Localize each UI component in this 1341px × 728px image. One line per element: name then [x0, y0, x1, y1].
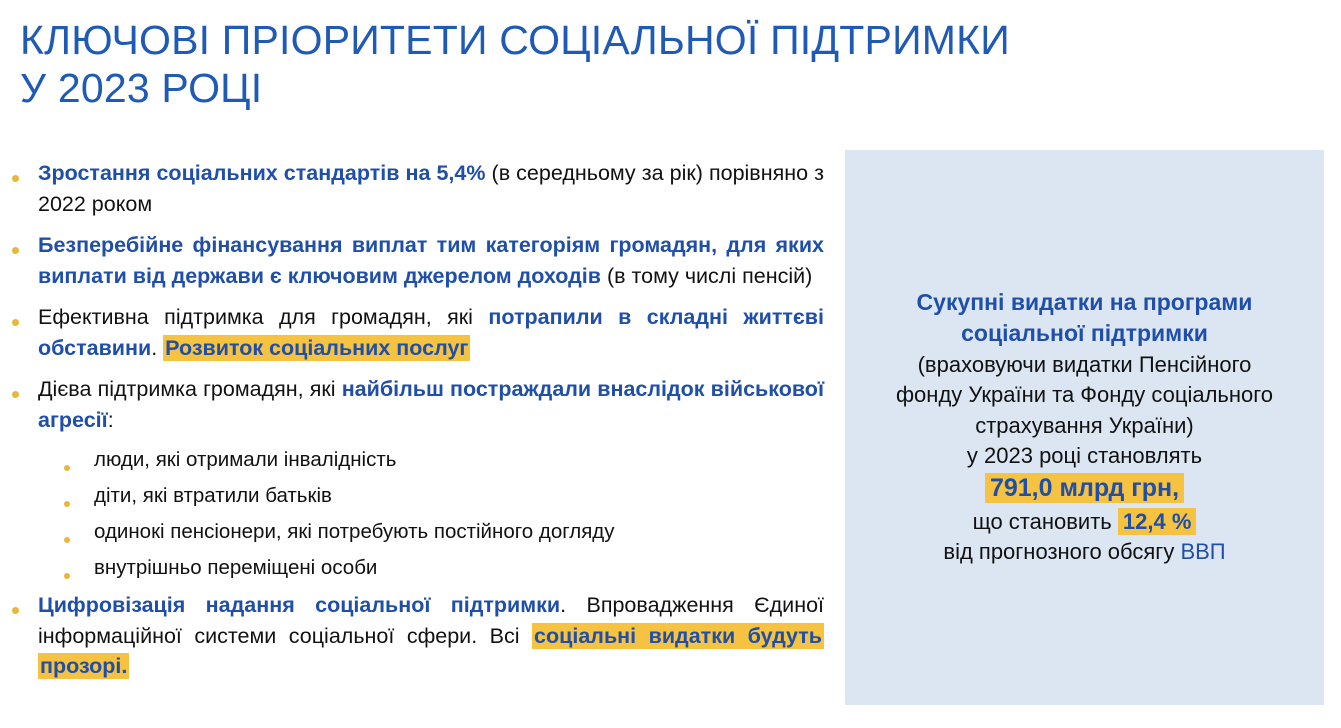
bullet-text: Цифровізація надання соціальної підтримк…	[38, 590, 824, 682]
bullet-text: Зростання соціальних стандартів на 5,4% …	[38, 158, 824, 219]
list-item: Дієва підтримка громадян, які найбільш п…	[12, 374, 824, 435]
total-amount-line: 791,0 млрд грн,	[859, 471, 1310, 507]
gdp-abbreviation: ВВП	[1180, 539, 1225, 564]
bullet-dot-icon	[12, 302, 38, 331]
info-panel-line-4: у 2023 році становлять	[859, 441, 1310, 471]
total-amount-value: 791,0 млрд грн,	[985, 473, 1184, 503]
bullet-dot-icon	[64, 518, 94, 548]
bullet-text: Дієва підтримка громадян, які найбільш п…	[38, 374, 824, 435]
gdp-source-line: від прогнозного обсягу ВВП	[859, 537, 1310, 567]
sub-bullet-text: внутрішньо переміщені особи	[94, 554, 824, 582]
bullet-dot-icon	[12, 230, 38, 259]
bullet-dot-icon	[12, 590, 38, 619]
bullet-dot-icon	[64, 446, 94, 476]
bullet-rest: (в тому числі пенсій)	[601, 264, 812, 288]
list-item: Цифровізація надання соціальної підтримк…	[12, 590, 824, 682]
bullet-dot-icon	[12, 158, 38, 187]
gdp-share-prefix: що становить	[973, 509, 1112, 534]
sub-bullet-text: діти, які втратили батьків	[94, 482, 824, 510]
bullet-text: Ефективна підтримка для громадян, які по…	[38, 302, 824, 363]
info-panel-line-2: фонду України та Фонду соціального	[859, 380, 1310, 410]
bullet-list: Зростання соціальних стандартів на 5,4% …	[12, 158, 824, 693]
info-panel-line-1: (враховуючи видатки Пенсійного	[859, 350, 1310, 380]
info-panel-body: (враховуючи видатки Пенсійного фонду Укр…	[859, 350, 1310, 568]
list-item: одинокі пенсіонери, які потребують пості…	[12, 518, 824, 548]
list-item: діти, які втратили батьків	[12, 482, 824, 512]
highlighted-phrase: Розвиток соціальних послуг	[163, 335, 470, 361]
list-item: Зростання соціальних стандартів на 5,4% …	[12, 158, 824, 219]
gdp-source-prefix: від прогнозного обсягу	[943, 539, 1180, 564]
sub-bullet-text: люди, які отримали інвалідність	[94, 446, 824, 474]
bullet-dot-icon	[64, 482, 94, 512]
bullet-plain-lead: Дієва підтримка громадян, які	[38, 377, 342, 401]
sub-bullet-text: одинокі пенсіонери, які потребують пості…	[94, 518, 824, 546]
list-item: Ефективна підтримка для громадян, які по…	[12, 302, 824, 363]
bullet-dot-icon	[64, 554, 94, 584]
bullet-plain-mid: .	[151, 336, 163, 360]
bullet-plain-lead: Ефективна підтримка для громадян, які	[38, 305, 488, 329]
bullet-dot-icon	[12, 374, 38, 403]
list-item: Безперебійне фінансування виплат тим кат…	[12, 230, 824, 291]
bullet-bold-lead: Цифровізація надання соціальної підтримк…	[38, 593, 560, 617]
info-panel-heading: Сукупні видатки на програми соціальної п…	[859, 287, 1310, 348]
gdp-share-value: 12,4 %	[1118, 508, 1197, 535]
info-panel: Сукупні видатки на програми соціальної п…	[845, 150, 1324, 705]
page-title: КЛЮЧОВІ ПРІОРИТЕТИ СОЦІАЛЬНОЇ ПІДТРИМКИ …	[20, 16, 1310, 113]
gdp-share-line: що становить 12,4 %	[859, 507, 1310, 537]
list-item: внутрішньо переміщені особи	[12, 554, 824, 584]
bullet-bold-lead: Зростання соціальних стандартів на 5,4%	[38, 161, 485, 185]
list-item: люди, які отримали інвалідність	[12, 446, 824, 476]
bullet-plain-tail: :	[108, 408, 114, 432]
info-panel-line-3: страхування України)	[859, 411, 1310, 441]
bullet-text: Безперебійне фінансування виплат тим кат…	[38, 230, 824, 291]
